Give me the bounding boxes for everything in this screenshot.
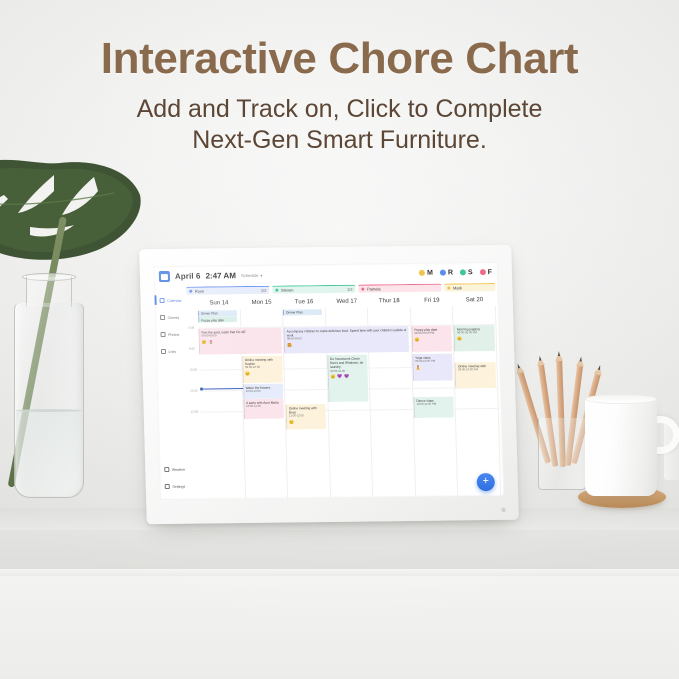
member-avatar-s[interactable]: S	[460, 269, 473, 276]
calendar-event[interactable]: Online meeting with09:00-10:30 PM	[455, 362, 496, 388]
time-label: 12:00	[191, 410, 199, 414]
member-bar-dot	[361, 288, 364, 291]
sidebar-item-settings[interactable]: Settings	[163, 478, 192, 495]
day-label: Mon 15	[251, 299, 271, 305]
calendar-app-icon	[159, 270, 170, 281]
member-bar-name: Steven	[281, 287, 294, 292]
sidebar-item-label: Settings	[172, 484, 185, 488]
view-selector-label: Schedule	[241, 272, 259, 277]
sidebar-item-calendar[interactable]: Calendar	[157, 292, 186, 309]
event-reaction-emoji[interactable]: 😊 💜 💜	[330, 373, 365, 379]
white-mug	[585, 398, 657, 496]
event-reaction-emoji[interactable]: 😊	[245, 370, 280, 376]
time-label: 6:00	[188, 326, 194, 330]
calendar-event[interactable]: Dance class10:00-11:00 PM	[413, 396, 454, 417]
calendar-event[interactable]: Puppy play date08:00-09:00 PM😊	[411, 326, 452, 352]
gear-icon	[165, 484, 170, 489]
sidebar-item-label: Lists	[168, 349, 176, 353]
vase-water	[16, 410, 82, 496]
member-initial: R	[448, 269, 453, 276]
vase-water-line	[16, 409, 82, 412]
current-date: April 6	[175, 271, 201, 280]
day-header-fri-19[interactable]: Fri 19	[410, 297, 453, 304]
current-time: 2:47 AM	[205, 271, 236, 280]
device-screen[interactable]: April 6 2:47 AM Schedule ▾ MRSF Calendar…	[154, 262, 505, 500]
member-bar-rose[interactable]: Rose1/2	[186, 286, 269, 295]
subtitle-line-2: Next-Gen Smart Furniture.	[0, 125, 679, 156]
lists-icon	[161, 349, 166, 354]
day-header-mon-15[interactable]: Mon 15	[240, 299, 283, 306]
calendar-event[interactable]: A party with Aunt Maria10:00-11:00	[243, 399, 284, 419]
member-bar-dot	[448, 287, 451, 290]
photos-icon	[160, 332, 165, 337]
day-header-wed-17[interactable]: Wed 17	[325, 298, 368, 305]
member-bar-fraction: 1/2	[347, 287, 353, 292]
sidebar-item-lists[interactable]: Lists	[159, 343, 188, 360]
member-bar-dot	[275, 289, 278, 292]
avatar-dot	[460, 269, 466, 275]
marketing-copy: Interactive Chore Chart Add and Track on…	[0, 34, 679, 155]
event-reaction-emoji[interactable]: 😊	[289, 419, 324, 425]
chores-icon	[160, 315, 165, 320]
day-label: Tue 16	[295, 299, 314, 305]
event-title: Do housework Clean floors and Windows, d…	[330, 356, 363, 369]
day-label: Sun 14	[209, 300, 228, 306]
sidebar-primary-items: CalendarChoresPhotosLists	[157, 292, 188, 360]
time-label: 11:00	[190, 389, 197, 393]
chevron-down-icon: ▾	[260, 272, 262, 277]
member-avatar-list: MRSF	[419, 269, 492, 277]
member-bar-name: Rose	[195, 289, 204, 294]
day-header-sat-20[interactable]: Sat 20	[453, 296, 496, 303]
member-bar-fraction: 1/2	[261, 288, 267, 293]
schedule-grid[interactable]: Dinner PlanPuppy play dateDinner PlanRun…	[198, 306, 501, 500]
sidebar-spacer	[159, 360, 191, 461]
day-label: Wed 17	[336, 298, 357, 304]
member-bar-mark[interactable]: Mark	[445, 283, 496, 292]
day-label: Fri 19	[424, 297, 440, 303]
member-bar-name: Mark	[453, 285, 462, 290]
monstera-plant-decor	[0, 165, 165, 505]
calendar-event[interactable]: Do housework Clean floors and Windows, d…	[327, 355, 368, 402]
sidebar-item-chores[interactable]: Chores	[158, 309, 187, 326]
member-avatar-r[interactable]: R	[440, 269, 453, 276]
allday-event[interactable]: Puppy play date	[198, 316, 237, 322]
event-reaction-emoji[interactable]: 🧘	[415, 364, 450, 370]
event-reaction-emoji[interactable]: 😊	[457, 336, 492, 342]
member-avatar-m[interactable]: M	[419, 269, 433, 276]
member-bar-dot	[189, 290, 192, 293]
calendar-event[interactable]: Accompany children to make delicious foo…	[284, 326, 410, 354]
member-initial: M	[427, 269, 433, 276]
member-avatar-f[interactable]: F	[480, 269, 492, 276]
event-reaction-emoji[interactable]: 🍔	[287, 341, 407, 348]
calendar-event[interactable]: Run the yard, wash that FC-SE09:00-09:00…	[198, 328, 281, 355]
weather-icon	[164, 467, 169, 472]
event-time: 10:00-11:00 PM	[416, 403, 451, 407]
page-title: Interactive Chore Chart	[0, 34, 679, 84]
calendar-event[interactable]: Water the flowers10:00-10:00	[243, 384, 284, 399]
monstera-leaf-icon	[0, 155, 144, 275]
add-event-button[interactable]: +	[477, 473, 496, 491]
time-label: 10:00	[189, 368, 197, 372]
event-reaction-emoji[interactable]: 😊 🌷	[202, 338, 280, 344]
event-reaction-emoji[interactable]: 😊	[415, 336, 450, 342]
sidebar-bottom-items: WeatherSettings	[162, 461, 192, 495]
member-bar-pamela[interactable]: Pamela	[358, 284, 441, 293]
sidebar-item-label: Chores	[168, 315, 180, 319]
event-title: Dinner Plan	[201, 311, 218, 315]
event-title: Dinner Plan	[286, 310, 303, 314]
member-initial: S	[468, 269, 473, 276]
avatar-dot	[440, 270, 446, 276]
day-header-tue-16[interactable]: Tue 16	[283, 299, 326, 306]
subtitle-line-1: Add and Track on, Click to Complete	[0, 94, 679, 125]
day-header-sun-14[interactable]: Sun 14	[198, 300, 241, 307]
time-label: 8:00	[189, 347, 195, 351]
calendar-event[interactable]: Morning jogging08:00-09:00 PM😊	[454, 325, 495, 351]
day-label: Thur 18	[379, 298, 400, 304]
sidebar-item-label: Photos	[168, 332, 179, 336]
event-time: 10:00-11:00	[246, 405, 281, 409]
day-label: Sat 20	[466, 297, 484, 303]
calendar-event[interactable]: Online meeting with Boss11:00-12:00😊	[286, 404, 327, 429]
sidebar-item-weather[interactable]: Weather	[162, 461, 191, 478]
sidebar-item-label: Calendar	[167, 298, 182, 302]
member-bar-name: Pamela	[367, 286, 381, 291]
calendar-icon	[160, 298, 165, 303]
calendar-event[interactable]: Yoga class09:00-10:00 PM🧘	[412, 353, 453, 380]
event-time: 09:00-10:30 PM	[458, 368, 493, 372]
glass-pencil-holder	[538, 418, 586, 490]
current-time-dot	[200, 388, 203, 391]
allday-event[interactable]: Dinner Plan	[198, 310, 237, 316]
calendar-event[interactable]: Online meeting with Sophie09:00-10:00😊	[242, 356, 283, 383]
mug-rim	[585, 394, 657, 404]
sidebar-item-photos[interactable]: Photos	[158, 326, 187, 343]
event-time: 10:00-10:00	[246, 390, 281, 394]
smart-display-device[interactable]: April 6 2:47 AM Schedule ▾ MRSF Calendar…	[139, 245, 519, 524]
allday-event[interactable]: Dinner Plan	[283, 309, 322, 315]
schedule-grid-wrapper[interactable]: 6:008:0010:0011:0012:00 Dinner PlanPuppy…	[187, 306, 501, 500]
avatar-dot	[419, 270, 425, 276]
view-selector[interactable]: Schedule ▾	[241, 272, 263, 277]
member-initial: F	[488, 269, 492, 276]
sidebar-item-label: Weather	[172, 467, 186, 471]
day-header-thur-18[interactable]: Thur 18	[368, 298, 411, 305]
member-bar-steven[interactable]: Steven1/2	[272, 285, 355, 294]
event-title: Puppy play date	[201, 318, 224, 322]
calendar-content: Rose1/2Steven1/2PamelaMark Sun 14Mon 15T…	[186, 282, 504, 500]
avatar-dot	[480, 269, 486, 275]
